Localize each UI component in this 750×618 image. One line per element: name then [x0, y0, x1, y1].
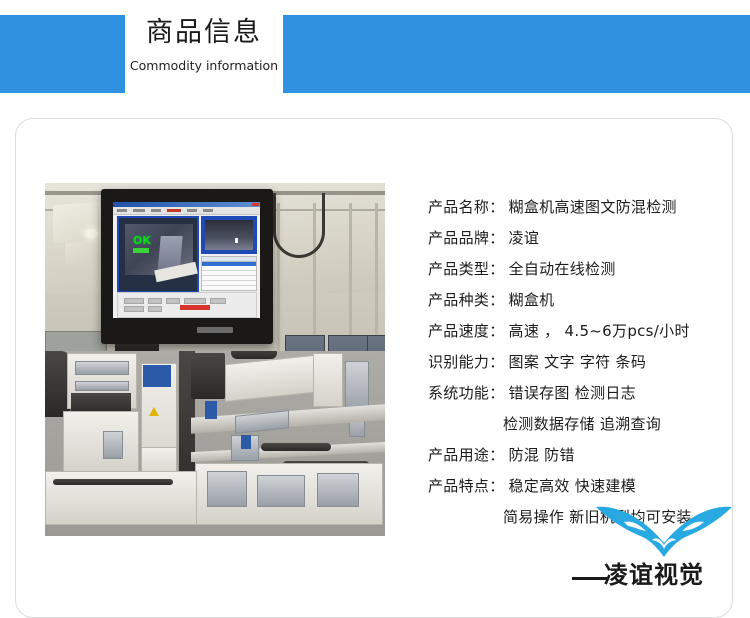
page-header: 商品信息 Commodity information	[0, 0, 750, 110]
table-row	[202, 275, 256, 276]
spec-value: 凌谊	[505, 227, 540, 248]
machine-fixture	[317, 473, 359, 507]
panel-button	[184, 298, 206, 304]
machine-panel	[103, 431, 123, 459]
company-logo: 凌谊视觉	[594, 503, 734, 593]
machine-cable	[53, 479, 173, 485]
spec-row-product-type: 产品类型： 全自动在线检测	[428, 258, 718, 289]
camera-lens	[231, 351, 277, 359]
folder-gluer-machine	[45, 351, 385, 536]
machine-roller	[75, 381, 129, 391]
reference-marker	[235, 238, 238, 243]
detection-log-table	[201, 256, 257, 291]
inspection-result-bar	[133, 248, 149, 253]
spec-value: 糊盒机高速图文防混检测	[505, 196, 677, 217]
spec-value: 图案 文字 字符 条码	[505, 351, 647, 372]
photo-cable	[273, 193, 325, 258]
machine-frame	[63, 411, 139, 473]
table-row	[202, 285, 256, 286]
panel-alarm-indicator	[180, 305, 210, 310]
spec-label: 产品类型：	[428, 258, 505, 279]
toolbar-item	[151, 209, 161, 212]
spec-row-system-function-cont: 检测数据存储 追溯查询	[428, 413, 718, 444]
spec-row-product-features: 产品特点： 稳定高效 快速建模	[428, 475, 718, 506]
panel-button	[166, 298, 180, 304]
machine-sensor	[205, 401, 217, 419]
spec-label: 产品名称：	[428, 196, 505, 217]
spec-value-continuation: 检测数据存储 追溯查询	[428, 413, 661, 434]
machine-sensor	[241, 435, 251, 449]
panel-button	[148, 306, 162, 312]
spec-row-recognition: 识别能力： 图案 文字 字符 条码	[428, 351, 718, 382]
inspection-monitor: OK	[101, 189, 273, 344]
machine-bracket	[313, 353, 343, 407]
reference-feed	[205, 220, 253, 250]
header-accent-bar-right	[283, 15, 750, 93]
machine-fixture	[257, 475, 305, 507]
panel-button	[210, 298, 226, 304]
live-camera-view: OK	[117, 216, 199, 293]
product-photo: OK	[45, 183, 385, 536]
wings-icon	[594, 503, 734, 561]
logo-text: 凌谊视觉	[604, 555, 734, 590]
page-title-cn: 商品信息	[125, 16, 283, 50]
product-spec-list: 产品名称： 糊盒机高速图文防混检测 产品品牌： 凌谊 产品类型： 全自动在线检测…	[428, 196, 718, 537]
spec-value: 全自动在线检测	[505, 258, 616, 279]
inspection-result-ok: OK	[133, 234, 151, 247]
panel-button	[124, 306, 144, 312]
spec-label: 系统功能：	[428, 382, 505, 403]
machine-fixture	[207, 471, 247, 507]
toolbar-item	[203, 209, 213, 212]
spec-label: 产品用途：	[428, 444, 505, 465]
spec-row-system-function: 系统功能： 错误存图 检测日志	[428, 382, 718, 413]
table-row	[202, 262, 256, 266]
monitor-brand-label	[197, 327, 233, 333]
spec-label: 产品种类：	[428, 289, 505, 310]
spec-value: 糊盒机	[505, 289, 555, 310]
table-row	[202, 280, 256, 281]
control-panel	[117, 292, 257, 318]
toolbar-item	[187, 209, 197, 212]
spec-row-product-use: 产品用途： 防混 防错	[428, 444, 718, 475]
logo-rule	[572, 577, 608, 580]
software-toolbar	[113, 207, 260, 215]
spec-value: 错误存图 检测日志	[505, 382, 636, 403]
close-icon	[252, 203, 259, 206]
table-row	[202, 270, 256, 271]
spec-row-product-category: 产品种类： 糊盒机	[428, 289, 718, 320]
toolbar-item	[167, 209, 181, 212]
reference-image-view	[201, 216, 257, 254]
header-title-block: 商品信息 Commodity information	[125, 0, 283, 110]
photo-lamp	[85, 229, 98, 238]
warning-icon	[149, 407, 159, 416]
machine-arm	[225, 354, 323, 402]
camera-housing	[191, 353, 225, 399]
machine-shaft	[261, 443, 331, 451]
spec-label: 产品速度：	[428, 320, 505, 341]
spec-label: 产品品牌：	[428, 227, 505, 248]
spec-value: 高速 ， 4.5~6万pcs/小时	[505, 320, 690, 341]
spec-label: 识别能力：	[428, 351, 505, 372]
panel-button	[148, 298, 162, 304]
spec-row-product-brand: 产品品牌： 凌谊	[428, 227, 718, 258]
inspection-column-label	[143, 365, 171, 387]
header-accent-bar-left	[0, 15, 125, 93]
page-title-en: Commodity information	[125, 58, 283, 74]
monitor-screen: OK	[113, 202, 260, 318]
toolbar-item	[133, 209, 145, 212]
spec-value: 防混 防错	[505, 444, 575, 465]
machine-roller	[75, 361, 129, 375]
spec-row-product-speed: 产品速度： 高速 ， 4.5~6万pcs/小时	[428, 320, 718, 351]
spec-row-product-name: 产品名称： 糊盒机高速图文防混检测	[428, 196, 718, 227]
spec-label: 产品特点：	[428, 475, 505, 496]
toolbar-item	[117, 209, 127, 212]
panel-button	[124, 298, 144, 304]
spec-value: 稳定高效 快速建模	[505, 475, 636, 496]
